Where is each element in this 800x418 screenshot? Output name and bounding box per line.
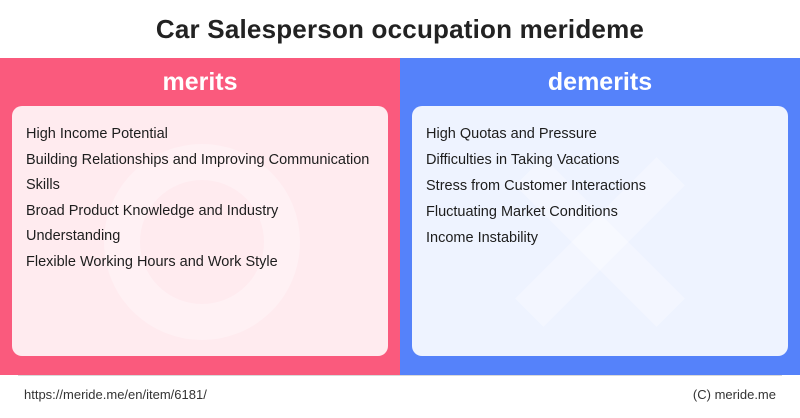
merits-heading: merits [0,58,400,106]
list-item: Building Relationships and Improving Com… [26,148,374,198]
list-item: Broad Product Knowledge and Industry Und… [26,199,374,249]
footer-divider [18,375,782,376]
demerits-card: High Quotas and Pressure Difficulties in… [412,106,788,356]
demerits-heading: demerits [400,58,800,106]
page-footer: https://meride.me/en/item/6181/ (C) meri… [0,375,800,418]
copyright-credit: (C) meride.me [693,387,776,402]
list-item: Flexible Working Hours and Work Style [26,250,374,275]
list-item: High Income Potential [26,122,374,147]
list-item: Fluctuating Market Conditions [426,200,774,225]
infographic-page: Car Salesperson occupation merideme meri… [0,0,800,418]
list-item: High Quotas and Pressure [426,122,774,147]
merits-card: High Income Potential Building Relations… [12,106,388,356]
merits-demerits-columns: merits High Income Potential Building Re… [0,58,800,375]
demerits-column: demerits High Quotas and Pressure Diffic… [400,58,800,375]
list-item: Difficulties in Taking Vacations [426,148,774,173]
list-item: Stress from Customer Interactions [426,174,774,199]
source-url-link[interactable]: https://meride.me/en/item/6181/ [24,387,207,402]
merits-column: merits High Income Potential Building Re… [0,58,400,375]
list-item: Income Instability [426,226,774,251]
page-title: Car Salesperson occupation merideme [0,0,800,58]
